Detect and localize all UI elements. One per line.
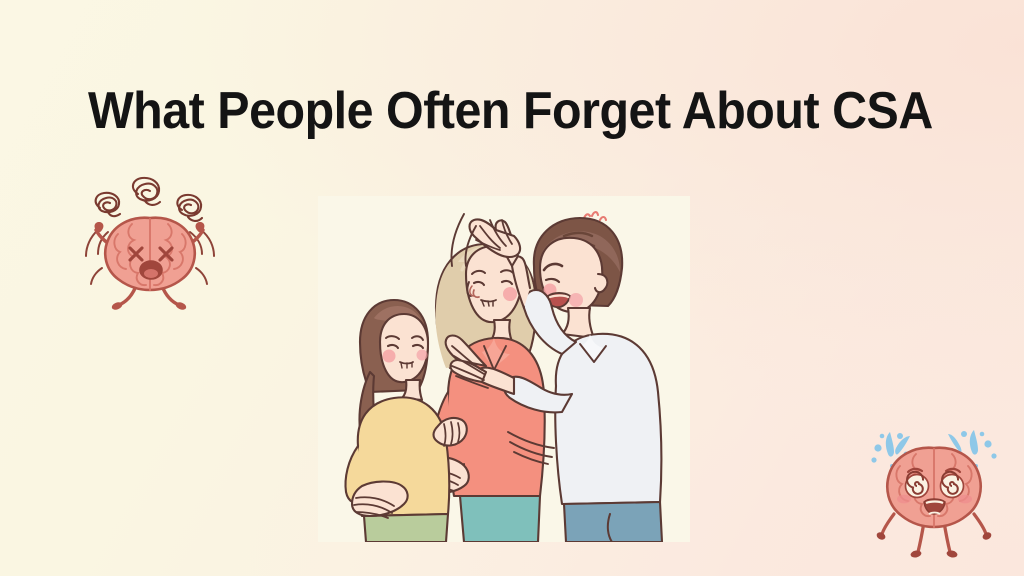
brain-mascot-dizzy (860, 414, 1008, 564)
scribble-cloud-icon (96, 178, 202, 221)
brain-mouth-open (140, 261, 162, 279)
brain-mascot-frustrated (74, 172, 226, 320)
page-title: What People Often Forget About CSA (88, 80, 906, 142)
brain-hands (875, 531, 992, 541)
slide-canvas: What People Often Forget About CSA (0, 0, 1024, 576)
brain-body (887, 448, 980, 527)
family-conflict-illustration (318, 196, 690, 542)
brain-feet (910, 550, 958, 559)
